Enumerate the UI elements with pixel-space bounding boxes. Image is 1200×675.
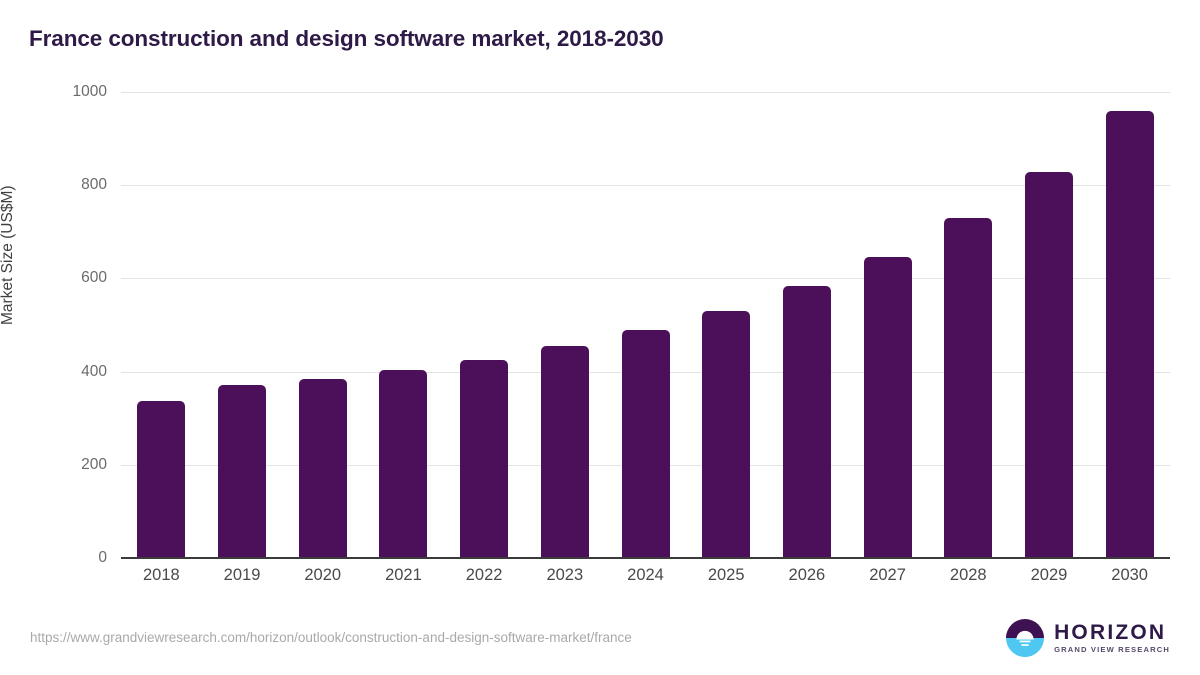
x-axis-tick-label: 2021 (385, 566, 422, 585)
horizon-logo-icon (1005, 618, 1045, 658)
bar-2022[interactable] (460, 360, 508, 558)
x-axis-tick-label: 2024 (627, 566, 664, 585)
bar-2021[interactable] (379, 370, 427, 558)
bar-2027[interactable] (864, 257, 912, 559)
horizon-logo-text: HORIZON GRAND VIEW RESEARCH (1054, 622, 1170, 654)
bar-slot (218, 92, 266, 558)
bar-slot (299, 92, 347, 558)
bar-slot (541, 92, 589, 558)
y-axis-tick-label: 800 (81, 176, 107, 194)
y-axis-label: Market Size (US$M) (0, 185, 17, 325)
logo-wordmark: HORIZON (1054, 622, 1170, 643)
logo-subtitle: GRAND VIEW RESEARCH (1054, 646, 1170, 654)
bar-2028[interactable] (944, 218, 992, 558)
source-url: https://www.grandviewresearch.com/horizo… (30, 630, 632, 645)
y-axis-tick-label: 0 (98, 549, 107, 567)
bar-slot (622, 92, 670, 558)
bar-slot (864, 92, 912, 558)
x-axis-tick-label: 2019 (224, 566, 261, 585)
bar-2029[interactable] (1025, 172, 1073, 558)
chart-page: France construction and design software … (0, 0, 1200, 675)
bar-2023[interactable] (541, 346, 589, 558)
y-axis-tick-label: 200 (81, 456, 107, 474)
bar-slot (379, 92, 427, 558)
y-axis-tick-label: 400 (81, 363, 107, 381)
x-axis: 2018201920202021202220232024202520262027… (121, 566, 1170, 596)
y-axis: 02004006008001000 (0, 0, 121, 675)
bar-2024[interactable] (622, 330, 670, 558)
bar-2020[interactable] (299, 379, 347, 558)
x-axis-line (121, 557, 1170, 559)
bar-slot (460, 92, 508, 558)
bar-slot (1025, 92, 1073, 558)
bar-2026[interactable] (783, 286, 831, 558)
y-axis-tick-label: 600 (81, 269, 107, 287)
bar-2030[interactable] (1106, 111, 1154, 558)
bar-2025[interactable] (702, 311, 750, 558)
x-axis-tick-label: 2023 (546, 566, 583, 585)
bar-2018[interactable] (137, 401, 185, 559)
x-axis-tick-label: 2030 (1111, 566, 1148, 585)
x-axis-tick-label: 2027 (869, 566, 906, 585)
bar-slot (702, 92, 750, 558)
x-axis-tick-label: 2025 (708, 566, 745, 585)
bar-slot (1106, 92, 1154, 558)
bar-slot (783, 92, 831, 558)
x-axis-tick-label: 2026 (789, 566, 826, 585)
x-axis-tick-label: 2020 (304, 566, 341, 585)
y-axis-tick-label: 1000 (73, 83, 107, 101)
page-title: France construction and design software … (29, 26, 664, 52)
horizon-logo: HORIZON GRAND VIEW RESEARCH (1005, 617, 1170, 659)
bar-slot (137, 92, 185, 558)
bar-2019[interactable] (218, 385, 266, 558)
x-axis-tick-label: 2018 (143, 566, 180, 585)
x-axis-tick-label: 2022 (466, 566, 503, 585)
bar-series (121, 92, 1170, 558)
x-axis-tick-label: 2028 (950, 566, 987, 585)
x-axis-tick-label: 2029 (1031, 566, 1068, 585)
bar-slot (944, 92, 992, 558)
